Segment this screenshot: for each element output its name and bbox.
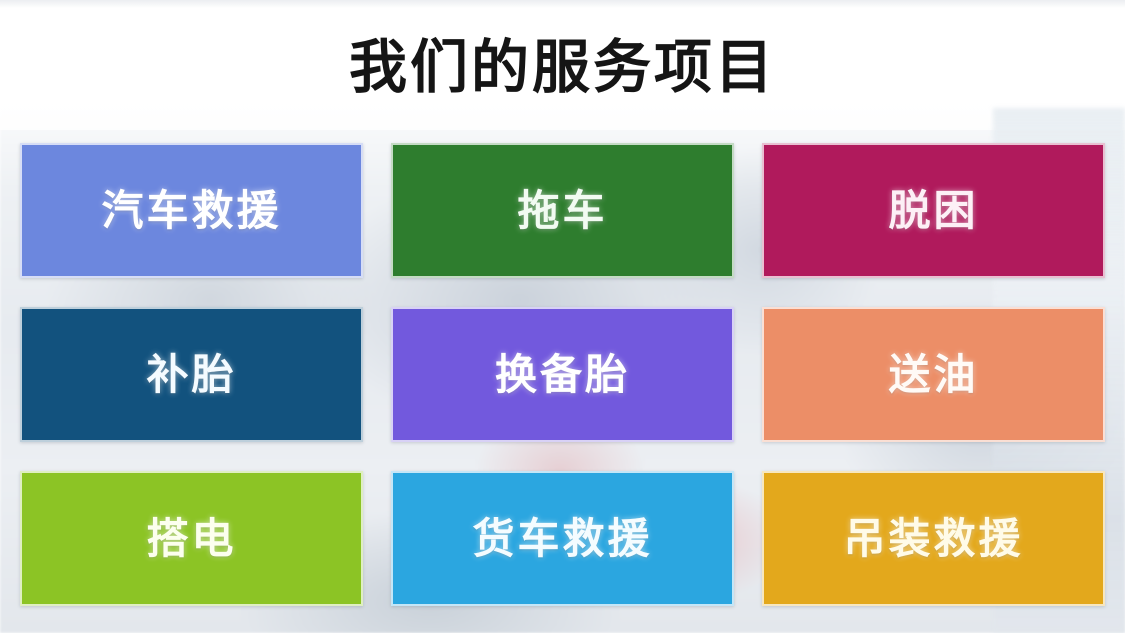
service-tile-car-rescue[interactable]: 汽车救援 xyxy=(20,143,363,278)
service-tile-label: 脱困 xyxy=(888,190,978,232)
service-tile-extrication[interactable]: 脱困 xyxy=(762,143,1105,278)
service-tile-crane-rescue[interactable]: 吊装救援 xyxy=(762,471,1105,606)
service-tile-label: 拖车 xyxy=(517,190,607,232)
service-tile-truck-rescue[interactable]: 货车救援 xyxy=(391,471,734,606)
service-tile-label: 货车救援 xyxy=(472,518,652,560)
service-poster: 我们的服务项目 汽车救援拖车脱困补胎换备胎送油搭电货车救援吊装救援 xyxy=(0,0,1125,633)
service-tile-label: 换备胎 xyxy=(495,354,630,396)
service-tile-label: 送油 xyxy=(888,354,978,396)
service-tile-label: 汽车救援 xyxy=(101,190,281,232)
service-tile-label: 搭电 xyxy=(146,518,236,560)
page-title: 我们的服务项目 xyxy=(349,33,776,97)
service-tile-jump-start[interactable]: 搭电 xyxy=(20,471,363,606)
service-tile-fuel-delivery[interactable]: 送油 xyxy=(762,307,1105,442)
service-tile-label: 吊装救援 xyxy=(843,518,1023,560)
service-tile-grid: 汽车救援拖车脱困补胎换备胎送油搭电货车救援吊装救援 xyxy=(20,143,1105,613)
title-area: 我们的服务项目 xyxy=(0,0,1125,130)
service-tile-label: 补胎 xyxy=(146,354,236,396)
service-tile-tow-truck[interactable]: 拖车 xyxy=(391,143,734,278)
service-tile-spare-tire-change[interactable]: 换备胎 xyxy=(391,307,734,442)
service-tile-tire-repair[interactable]: 补胎 xyxy=(20,307,363,442)
